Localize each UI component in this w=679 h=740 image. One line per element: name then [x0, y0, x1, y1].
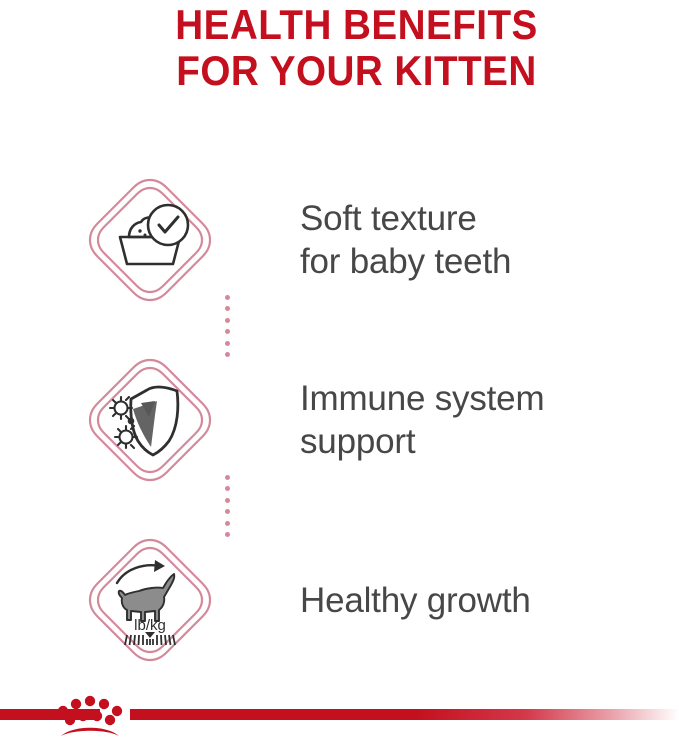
- connector-dot: [225, 498, 230, 503]
- connector-dot: [225, 509, 230, 514]
- benefits-list: Soft texture for baby teeth: [0, 150, 679, 690]
- shield-germs-icon: [85, 355, 215, 485]
- connector-dot: [225, 352, 230, 357]
- cat-weight-scale-icon: lb/kg: [85, 535, 215, 665]
- benefit-item: Soft texture for baby teeth: [0, 150, 679, 330]
- page-title-line-2: FOR YOUR KITTEN: [60, 48, 653, 94]
- benefit-item: lb/kg: [0, 510, 679, 690]
- benefit-label: Healthy growth: [300, 579, 679, 622]
- benefit-label: Soft texture for baby teeth: [300, 197, 679, 283]
- connector-dot: [225, 318, 230, 323]
- connector-dot: [225, 486, 230, 491]
- connector-dot: [225, 295, 230, 300]
- scale-unit-label: lb/kg: [134, 617, 166, 634]
- connector-dot: [225, 341, 230, 346]
- benefit-item: Immune system support: [0, 330, 679, 510]
- connector-dots-1: [224, 295, 230, 357]
- page-title-line-1: HEALTH BENEFITS: [60, 2, 653, 48]
- food-bowl-check-icon: [85, 175, 215, 305]
- connector-dot: [225, 532, 230, 537]
- page-title: HEALTH BENEFITS FOR YOUR KITTEN: [0, 2, 679, 94]
- benefit-label: Immune system support: [300, 377, 679, 463]
- connector-dot: [225, 329, 230, 334]
- benefit-icon-cell: [0, 175, 300, 305]
- royal-canin-crown-logo: [55, 692, 125, 740]
- connector-dot: [225, 521, 230, 526]
- benefit-icon-cell: [0, 355, 300, 485]
- connector-dots-2: [224, 475, 230, 537]
- connector-dot: [225, 306, 230, 311]
- connector-dot: [225, 475, 230, 480]
- health-benefits-panel: HEALTH BENEFITS FOR YOUR KITTEN: [0, 0, 679, 740]
- benefit-icon-cell: lb/kg: [0, 535, 300, 665]
- footer-bar-right: [130, 709, 679, 720]
